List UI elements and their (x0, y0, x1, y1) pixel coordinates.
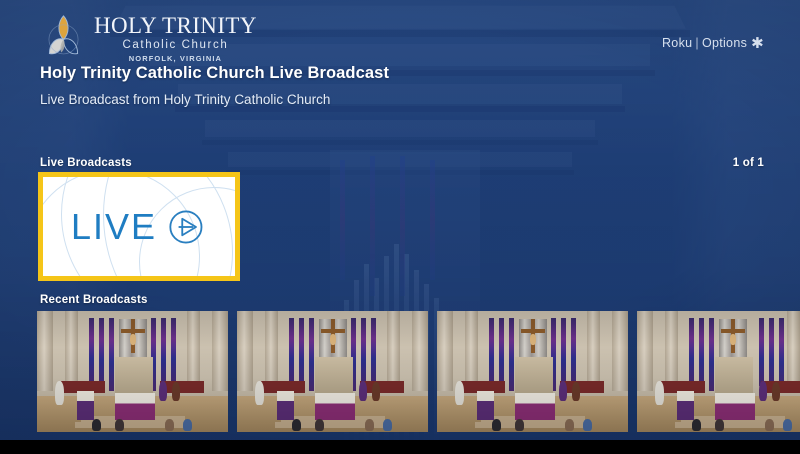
live-tile-canvas: LIVE (43, 177, 235, 276)
logo-wordmark: HOLY TRINITY Catholic Church NORFOLK, VI… (94, 12, 257, 62)
logo-line-2: Catholic Church (123, 40, 229, 52)
live-text: LIVE (71, 209, 157, 245)
roku-channel-screen: HOLY TRINITY Catholic Church NORFOLK, VI… (0, 0, 800, 454)
asterisk-icon: ✱ (751, 35, 764, 52)
logo-line-1: HOLY TRINITY (94, 14, 257, 37)
live-broadcasts-row-label: Live Broadcasts (40, 157, 132, 169)
recent-broadcast-thumbnail[interactable] (637, 311, 800, 432)
sanctuary-image (37, 311, 228, 432)
roku-label: Roku (662, 36, 692, 50)
recent-broadcast-thumbnail[interactable] (237, 311, 428, 432)
logo-line-3: NORFOLK, VIRGINIA (129, 55, 222, 63)
live-tile-content: LIVE (43, 177, 235, 276)
pagination-indicator: 1 of 1 (733, 157, 764, 169)
play-circle-icon (163, 205, 207, 249)
bottom-letterbox-bar (0, 440, 800, 454)
sanctuary-image (437, 311, 628, 432)
recent-broadcast-thumbnail[interactable] (37, 311, 228, 432)
page-title: Holy Trinity Catholic Church Live Broadc… (40, 64, 389, 83)
live-broadcast-tile[interactable]: LIVE (38, 172, 240, 281)
options-label: Options (702, 36, 747, 50)
recent-broadcasts-row-label: Recent Broadcasts (40, 294, 148, 306)
options-separator: | (695, 36, 699, 50)
roku-options-hint[interactable]: Roku|Options✱ (662, 34, 764, 52)
channel-logo: HOLY TRINITY Catholic Church NORFOLK, VI… (40, 12, 257, 62)
trinity-mark-icon (40, 13, 87, 62)
sanctuary-image (237, 311, 428, 432)
sanctuary-image (637, 311, 800, 432)
page-subtitle: Live Broadcast from Holy Trinity Catholi… (40, 90, 340, 109)
recent-broadcast-thumbnail[interactable] (437, 311, 628, 432)
